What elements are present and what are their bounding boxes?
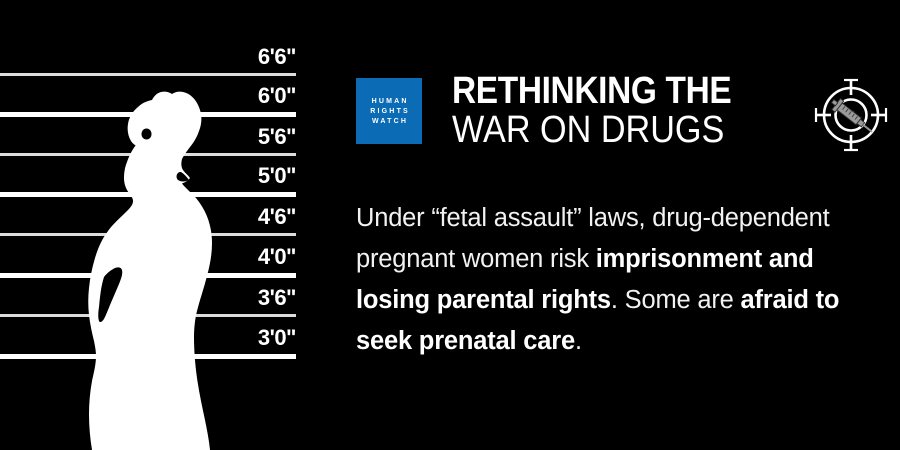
height-line	[0, 112, 296, 117]
infographic-poster: 6'6"6'0"5'6"5'0"4'6"4'0"3'6"3'0" HUMAN R…	[0, 0, 900, 450]
human-rights-watch-logo[interactable]: HUMAN RIGHTS WATCH	[356, 78, 422, 144]
body-text: . Some are	[611, 286, 741, 314]
logo-line-human: HUMAN	[369, 98, 408, 105]
target-syringe-icon	[814, 78, 888, 152]
body-copy: Under “fetal assault” laws, drug-depende…	[356, 198, 876, 362]
mugshot-height-chart: 6'6"6'0"5'6"5'0"4'6"4'0"3'6"3'0"	[0, 0, 300, 450]
title-line-2: WAR ON DRUGS	[452, 110, 749, 150]
logo-line-watch: WATCH	[370, 118, 408, 125]
height-label: 5'6"	[258, 126, 296, 148]
height-line	[0, 153, 296, 156]
campaign-title: RETHINKING THE WAR ON DRUGS	[452, 72, 782, 150]
height-label: 6'0"	[258, 85, 296, 107]
height-line	[0, 354, 296, 359]
height-line	[0, 233, 296, 236]
height-label: 4'6"	[258, 206, 296, 228]
height-line	[0, 73, 296, 76]
height-label: 5'0"	[258, 165, 296, 187]
height-label: 3'0"	[258, 327, 296, 349]
height-line	[0, 314, 296, 317]
pregnant-woman-silhouette	[0, 0, 300, 450]
content-panel: HUMAN RIGHTS WATCH RETHINKING THE WAR ON…	[300, 0, 900, 450]
logo-line-rights: RIGHTS	[368, 108, 410, 115]
height-line	[0, 192, 296, 197]
height-label: 3'6"	[258, 287, 296, 309]
body-text: .	[575, 327, 582, 355]
header-row: HUMAN RIGHTS WATCH RETHINKING THE WAR ON…	[356, 78, 888, 154]
height-line	[0, 273, 296, 278]
title-line-1: RETHINKING THE	[452, 72, 742, 110]
height-label: 6'6"	[258, 46, 296, 68]
height-label: 4'0"	[258, 246, 296, 268]
